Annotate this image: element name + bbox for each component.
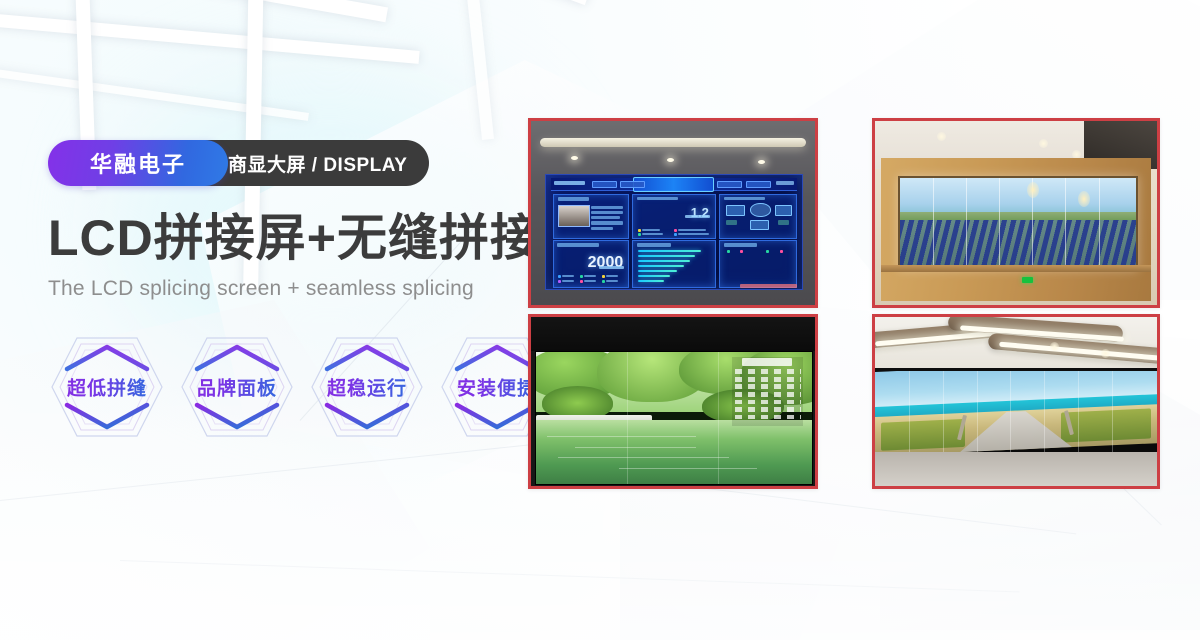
- feature-badge-label: 品牌面板: [178, 374, 296, 401]
- dashboard-screen: 1.2: [545, 174, 803, 290]
- tagline-pill-group: 商显大屏 / DISPLAY 华融电子: [48, 140, 228, 186]
- page-subtitle: The LCD splicing screen + seamless splic…: [48, 277, 518, 301]
- brand-tag: 华融电子: [48, 140, 228, 186]
- photo-willow-lake-video-wall[interactable]: [528, 314, 818, 489]
- banner-text-column: 商显大屏 / DISPLAY 华融电子 LCD拼接屏+无缝拼接 The LCD …: [48, 140, 518, 301]
- photo-solar-farm-video-wall[interactable]: [872, 118, 1160, 308]
- feature-badge-label: 超稳运行: [308, 374, 426, 401]
- feature-badge-2: 超稳运行: [308, 333, 426, 441]
- feature-badge-list: 超低拼缝 品牌面板: [48, 333, 556, 441]
- feature-badge-1: 品牌面板: [178, 333, 296, 441]
- video-wall-screen: [898, 176, 1139, 270]
- photo-control-room-dashboard[interactable]: 1.2: [528, 118, 818, 308]
- product-banner: 商显大屏 / DISPLAY 华融电子 LCD拼接屏+无缝拼接 The LCD …: [0, 0, 1200, 640]
- tagline-row: 商显大屏 / DISPLAY 华融电子: [48, 140, 518, 186]
- feature-badge-label: 超低拼缝: [48, 374, 166, 401]
- video-wall-screen: [875, 368, 1157, 459]
- video-wall-screen: [535, 351, 812, 485]
- page-title: LCD拼接屏+无缝拼接: [48, 212, 518, 265]
- photo-beach-boardwalk-video-wall[interactable]: [872, 314, 1160, 489]
- calendar-overlay: [732, 357, 804, 426]
- feature-badge-0: 超低拼缝: [48, 333, 166, 441]
